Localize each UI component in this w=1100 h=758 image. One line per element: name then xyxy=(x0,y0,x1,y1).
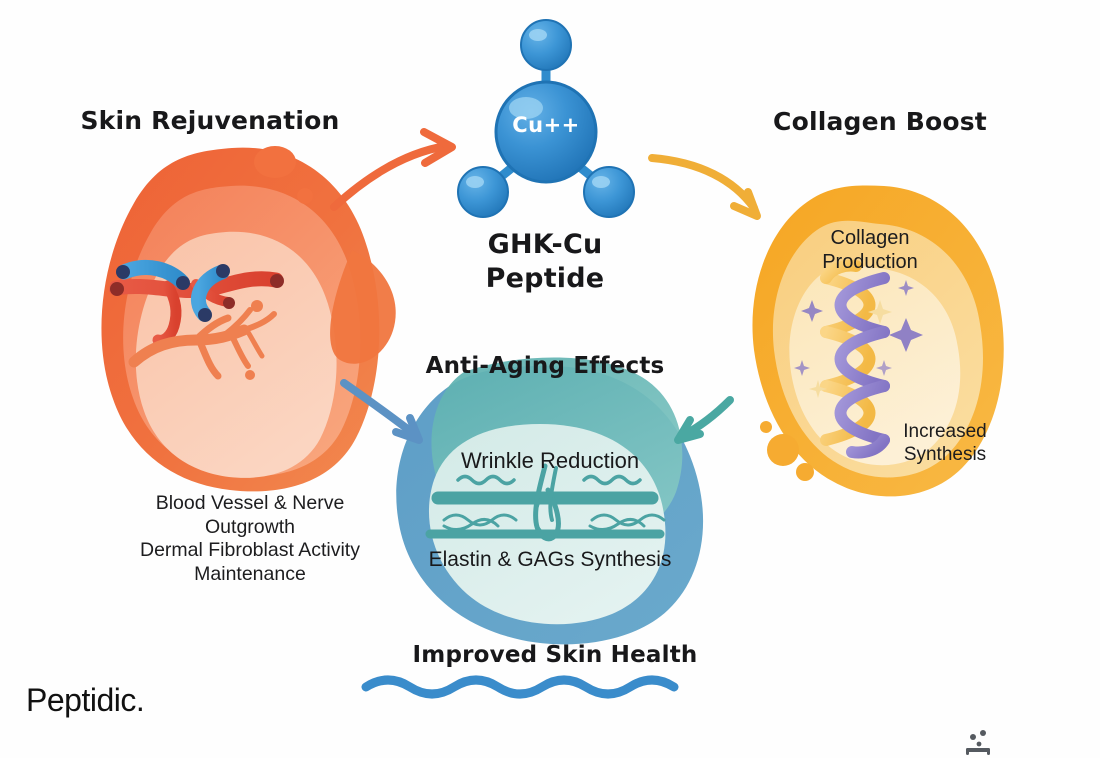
molecule-cu-label: Cu++ xyxy=(494,113,598,137)
arrow-skin-to-molecule xyxy=(334,132,452,207)
molecule-atom-right xyxy=(584,167,634,217)
nerve-dot xyxy=(245,370,255,380)
nerve-dot xyxy=(251,300,263,312)
vessel-end-cap xyxy=(270,274,284,288)
orange-splash-dot-small xyxy=(297,188,313,204)
collagen-dot-medium xyxy=(767,434,799,466)
anti-aging-illustration xyxy=(396,357,703,644)
heading-improved-skin-health: Improved Skin Health xyxy=(345,642,765,668)
molecule-caption: GHK-Cu Peptide xyxy=(400,228,690,296)
vessel-end-cap xyxy=(110,282,124,296)
heading-collagen-boost: Collagen Boost xyxy=(680,107,1080,136)
footer-wave-underline xyxy=(366,680,674,694)
increased-synthesis-label: Increased Synthesis xyxy=(845,420,1045,466)
vessel-end-cap xyxy=(176,276,190,290)
infographic-canvas: Cu++ Skin Rejuvenation Collagen Boost GH… xyxy=(0,0,1100,758)
skin-rejuvenation-illustration xyxy=(101,146,395,491)
vessel-end-cap xyxy=(116,265,130,279)
arrow-molecule-to-collagen xyxy=(652,158,757,216)
molecule-atom-left xyxy=(458,167,508,217)
brand-logo: Peptidic. xyxy=(26,682,286,719)
heading-skin-rejuvenation: Skin Rejuvenation xyxy=(0,106,420,135)
vessel-end-cap xyxy=(223,297,235,309)
heading-anti-aging-effects: Anti-Aging Effects xyxy=(400,353,690,379)
watermark-icon xyxy=(966,730,990,755)
wrinkle-reduction-label: Wrinkle Reduction xyxy=(400,448,700,474)
vessel-end-cap xyxy=(198,308,212,322)
collagen-production-label: Collagen Production xyxy=(760,226,980,274)
collagen-dot-small xyxy=(796,463,814,481)
collagen-dot-tiny xyxy=(760,421,772,433)
arrow-collagen-to-antiaging xyxy=(678,400,730,440)
skin-rejuvenation-description: Blood Vessel & Nerve Outgrowth Dermal Fi… xyxy=(60,492,440,586)
orange-splash-dot-large xyxy=(254,146,296,178)
molecule-atom-top xyxy=(521,20,571,70)
vessel-end-cap xyxy=(216,264,230,278)
elastin-gags-label: Elastin & GAGs Synthesis xyxy=(385,548,715,572)
